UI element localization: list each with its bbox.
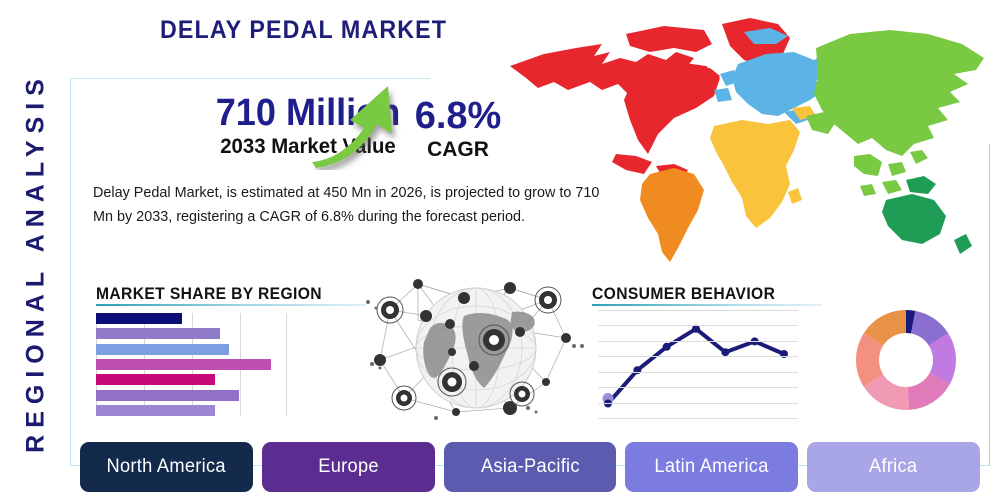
bar-7 <box>96 405 215 416</box>
map-region-south-america <box>640 168 704 262</box>
region-pill-latin-america[interactable]: Latin America <box>625 442 798 492</box>
bar-chart-bars <box>96 313 288 416</box>
bar-row <box>96 390 288 401</box>
donut-chart <box>854 308 958 412</box>
donut-chart-svg <box>854 308 958 412</box>
bar-chart-market-share <box>96 313 288 416</box>
bar-2 <box>96 328 220 339</box>
region-pill-asia-pacific[interactable]: Asia-Pacific <box>444 442 617 492</box>
section-heading-market-share: MARKET SHARE BY REGION <box>96 284 322 304</box>
map-region-africa <box>710 106 816 228</box>
region-pill-label: Latin America <box>655 456 769 478</box>
region-pill-africa[interactable]: Africa <box>807 442 980 492</box>
region-pill-label: Africa <box>869 456 917 478</box>
region-pill-label: North America <box>107 456 226 478</box>
bar-row <box>96 328 288 339</box>
line-chart-gridlines <box>598 310 798 418</box>
world-map <box>498 4 998 272</box>
bar-4 <box>96 359 271 370</box>
section-rule-market-share <box>96 304 366 306</box>
map-region-asia <box>806 30 984 196</box>
bar-5 <box>96 374 215 385</box>
bar-3 <box>96 344 229 355</box>
region-pill-list: North AmericaEuropeAsia-PacificLatin Ame… <box>80 442 980 492</box>
line-chart-consumer-behavior <box>598 310 798 418</box>
region-pill-europe[interactable]: Europe <box>262 442 435 492</box>
bar-row <box>96 344 288 355</box>
region-pill-label: Europe <box>318 456 379 478</box>
region-pill-label: Asia-Pacific <box>481 456 580 478</box>
section-rule-consumer-behavior <box>592 304 822 306</box>
region-pill-north-america[interactable]: North America <box>80 442 253 492</box>
bar-row <box>96 374 288 385</box>
bar-row <box>96 313 288 324</box>
bar-1 <box>96 313 182 324</box>
growth-arrow-icon <box>300 80 410 170</box>
page-title: DELAY PEDAL MARKET <box>160 16 447 45</box>
bar-6 <box>96 390 239 401</box>
side-label-regional-analysis: REGIONAL ANALYSIS <box>22 63 51 463</box>
bar-row <box>96 359 288 370</box>
section-heading-consumer-behavior: CONSUMER BEHAVIOR <box>592 284 775 304</box>
bar-row <box>96 405 288 416</box>
infographic-canvas: REGIONAL ANALYSIS DELAY PEDAL MARKET 710… <box>0 0 1000 500</box>
global-network-illustration <box>360 272 592 424</box>
